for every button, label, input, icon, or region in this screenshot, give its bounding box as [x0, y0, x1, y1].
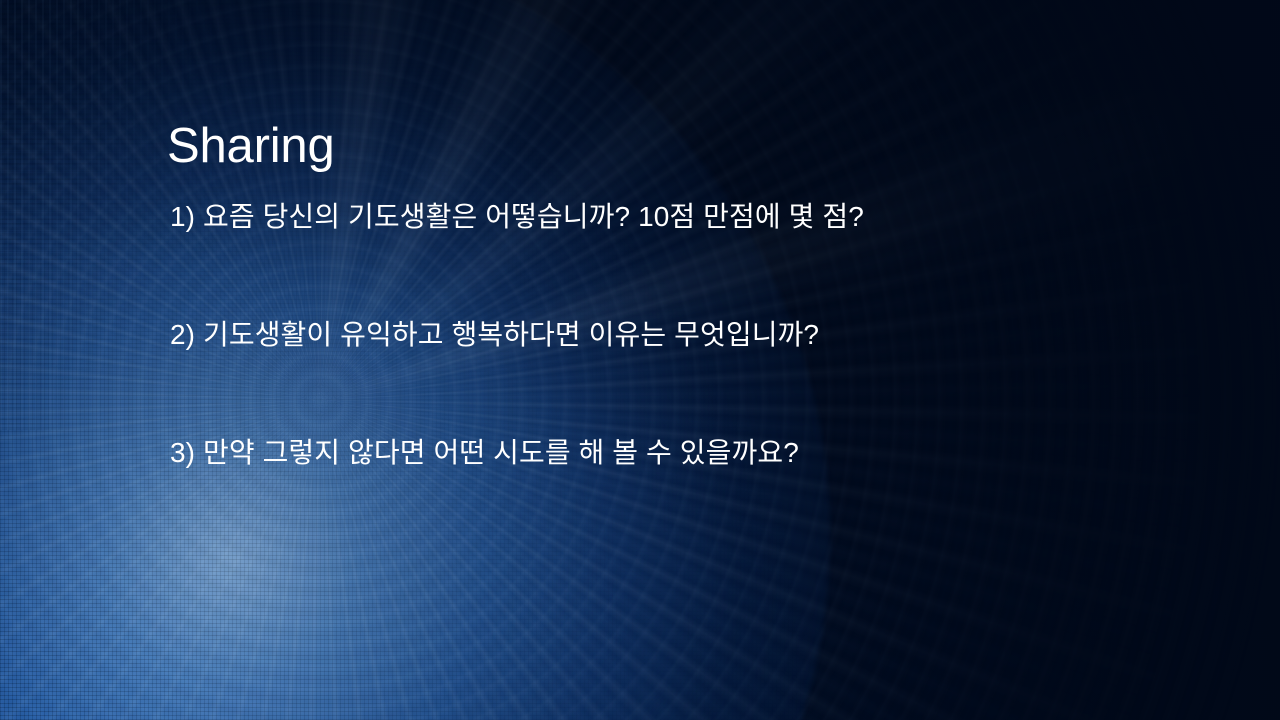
- presentation-slide: Sharing 1) 요즘 당신의 기도생활은 어떻습니까? 10점 만점에 몇…: [0, 0, 1280, 720]
- question-item-3: 3) 만약 그렇지 않다면 어떤 시도를 해 볼 수 있을까요?: [170, 436, 1130, 469]
- question-item-2: 2) 기도생활이 유익하고 행복하다면 이유는 무엇입니까?: [170, 318, 1130, 351]
- slide-body: 1) 요즘 당신의 기도생활은 어떻습니까? 10점 만점에 몇 점? 2) 기…: [170, 200, 1130, 469]
- slide-content: Sharing 1) 요즘 당신의 기도생활은 어떻습니까? 10점 만점에 몇…: [0, 0, 1280, 720]
- slide-title: Sharing: [167, 121, 335, 172]
- question-item-1: 1) 요즘 당신의 기도생활은 어떻습니까? 10점 만점에 몇 점?: [170, 200, 1130, 233]
